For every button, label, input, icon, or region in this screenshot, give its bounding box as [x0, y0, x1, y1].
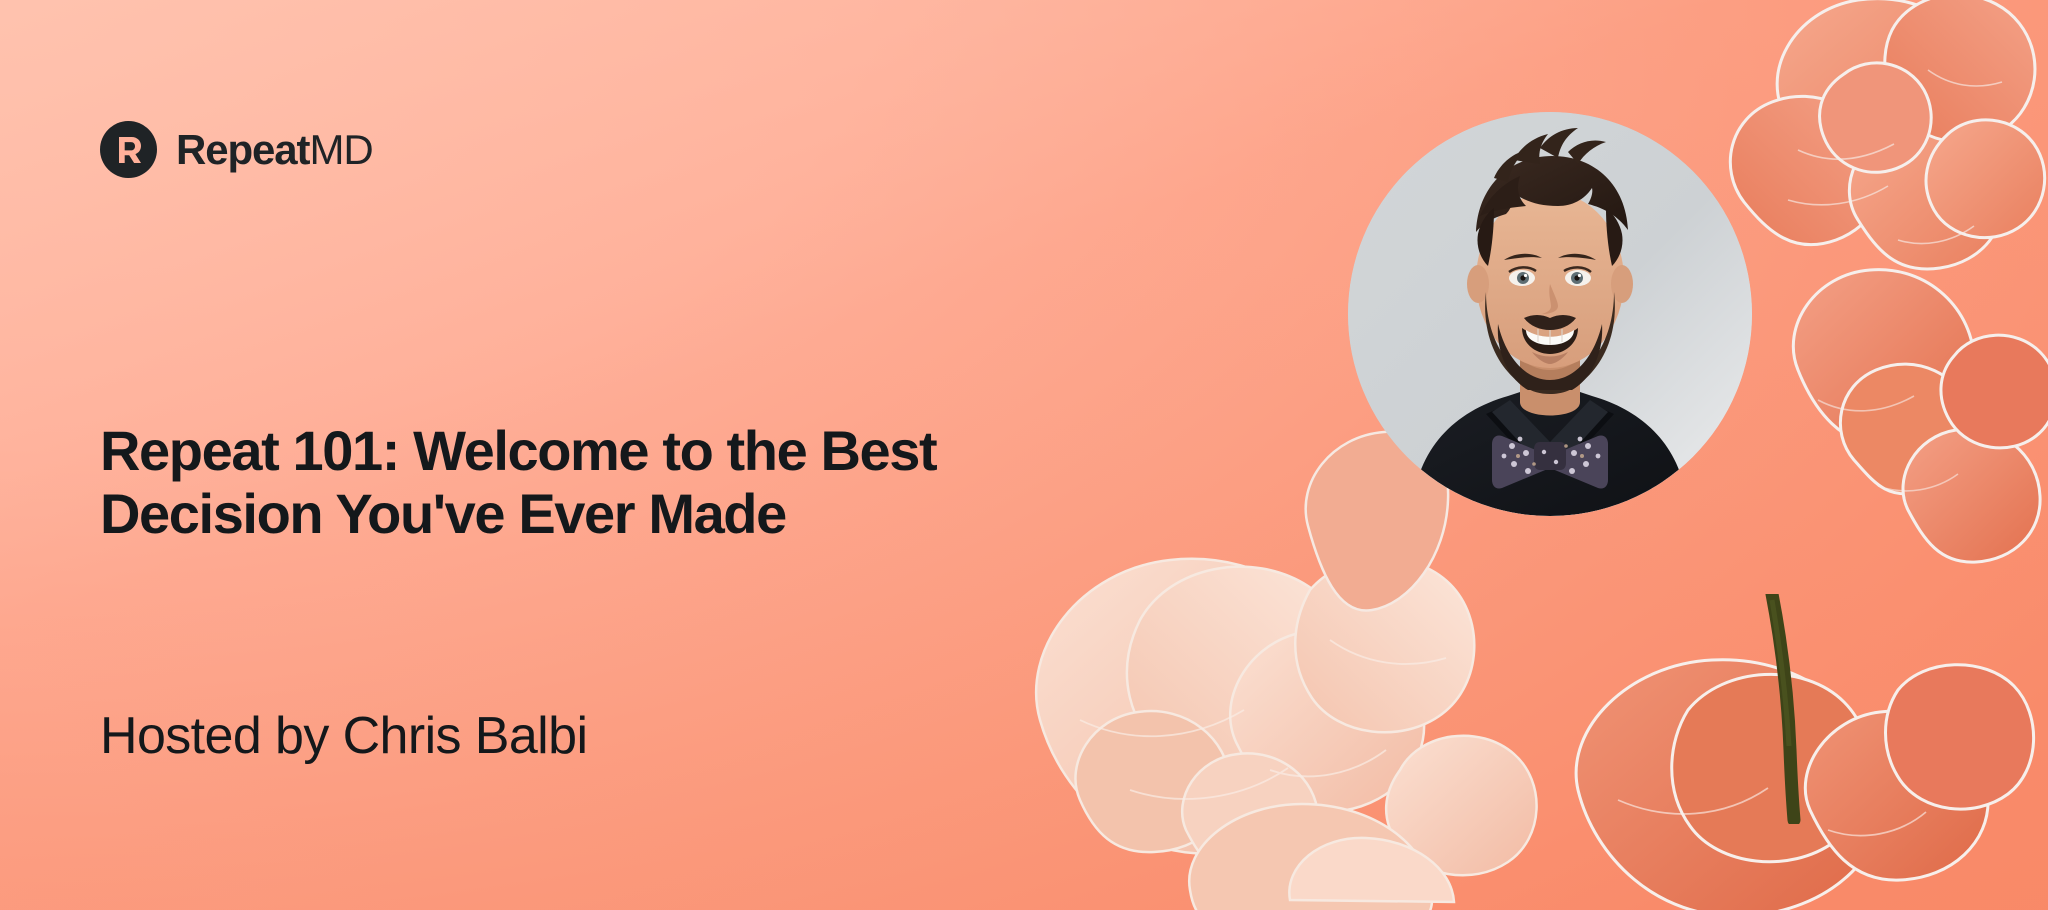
webinar-promo-banner: RepeatMD Repeat 101: Welcome to the Best…	[0, 0, 2048, 910]
page-title: Repeat 101: Welcome to the Best Decision…	[100, 420, 960, 545]
repeatmd-logo[interactable]: RepeatMD	[100, 121, 373, 178]
host-line: Hosted by Chris Balbi	[100, 708, 587, 765]
logo-wordmark: RepeatMD	[176, 129, 373, 171]
rose-right-middle-icon	[1758, 250, 2048, 610]
avatar	[1348, 112, 1752, 516]
logo-word-md: MD	[309, 129, 372, 171]
rose-petal-bottom-left-icon	[1180, 780, 1480, 910]
flower-stem-icon	[1748, 594, 1818, 824]
repeatmd-r-monogram-icon	[100, 121, 157, 178]
rose-bottom-right-icon	[1558, 600, 2048, 910]
logo-word-repeat: Repeat	[176, 129, 309, 171]
rose-bottom-center-icon	[1010, 470, 1650, 910]
